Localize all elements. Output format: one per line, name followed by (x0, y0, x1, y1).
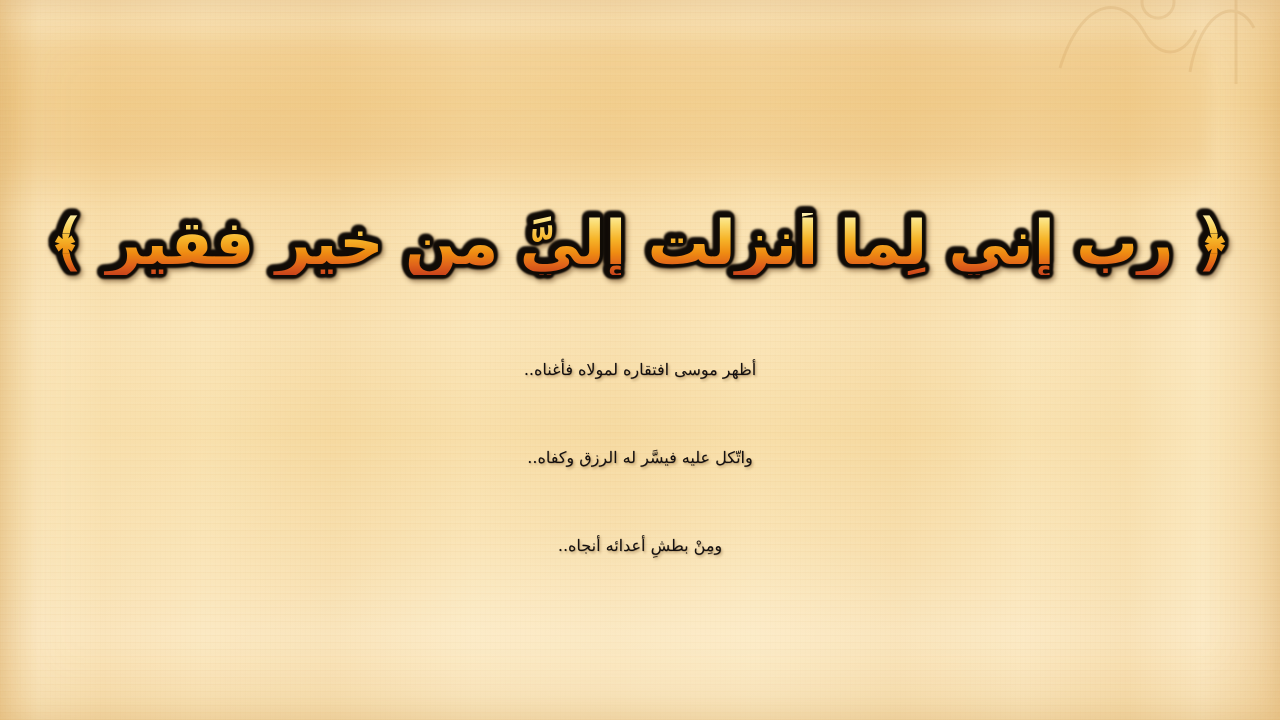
poem-line-3: ومِنْ بطشِ أعدائه أنجاه.. (60, 502, 1220, 590)
quran-verse-title: ﴿ رب إني لِما أنزلت إليَّ من خير فقير ﴾ (49, 213, 1231, 275)
quran-verse-title-wrap: ﴿ رب إني لِما أنزلت إليَّ من خير فقير ﴾ (0, 196, 1280, 292)
poster-canvas: ﴿ رب إني لِما أنزلت إليَّ من خير فقير ﴾ … (0, 0, 1280, 720)
poem-line-2: واتّكل عليه فيسَّر له الرزق وكفاه.. (60, 414, 1220, 502)
poster-content: ﴿ رب إني لِما أنزلت إليَّ من خير فقير ﴾ … (0, 0, 1280, 720)
poem-body: أظهر موسى افتقاره لمولاه فأغناه.. واتّكل… (60, 326, 1220, 590)
poem-line-1: أظهر موسى افتقاره لمولاه فأغناه.. (60, 326, 1220, 414)
